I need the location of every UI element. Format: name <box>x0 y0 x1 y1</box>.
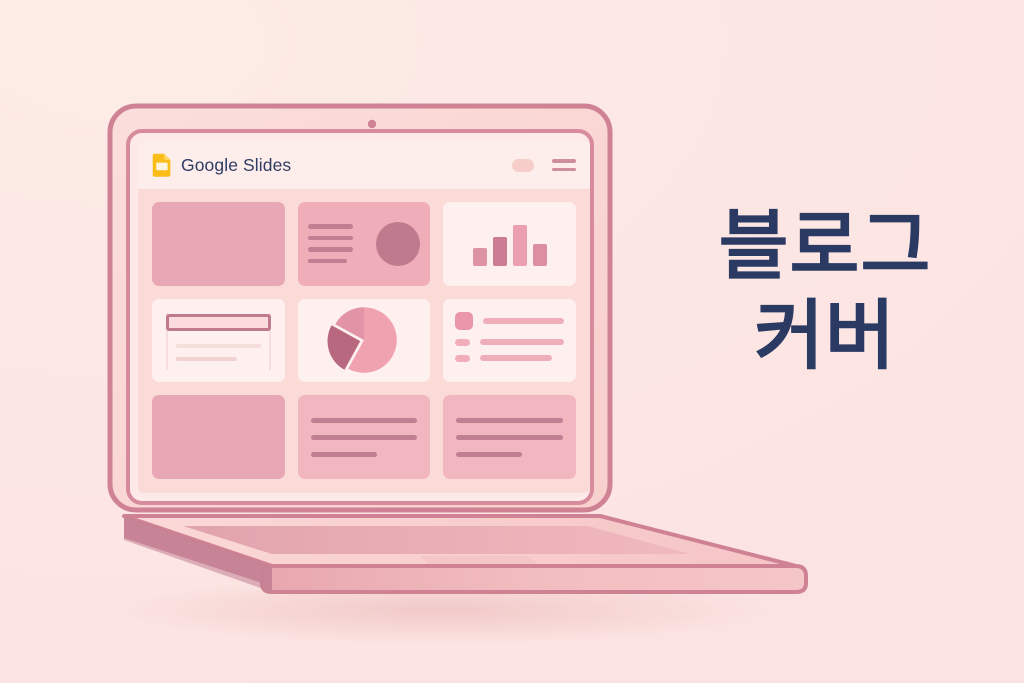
slide-thumbnail-6-list[interactable] <box>443 299 576 383</box>
text-line <box>456 435 563 440</box>
list-line <box>483 318 564 324</box>
slide-thumbnail-4-document[interactable] <box>152 299 285 383</box>
brand-area: Google Slides <box>152 153 291 178</box>
bar-4 <box>533 244 547 266</box>
bullet-icon <box>455 339 470 346</box>
list-item <box>455 312 564 330</box>
google-slides-icon <box>152 153 172 178</box>
list-item <box>455 355 564 362</box>
illustration-canvas: Google Slides <box>0 0 1024 683</box>
bar-1 <box>473 248 487 265</box>
slide-thumbnail-9-text[interactable] <box>443 395 576 479</box>
slide-thumbnail-5-pie-chart[interactable] <box>298 299 431 383</box>
webcam-dot <box>368 120 376 128</box>
body-line-1 <box>176 344 261 348</box>
account-pill[interactable] <box>512 159 534 172</box>
avatar <box>376 222 420 266</box>
list-line <box>480 339 564 345</box>
slide-thumbnail-8-text[interactable] <box>298 395 431 479</box>
text-line <box>456 452 522 457</box>
slide-thumbnail-3-bar-chart[interactable] <box>443 202 576 286</box>
headline-line-2: 커버 <box>660 292 990 382</box>
slides-grid <box>138 189 590 493</box>
text-line <box>311 435 418 440</box>
text-lines <box>308 224 371 263</box>
slide-thumbnail-1[interactable] <box>152 202 285 286</box>
headline-line-1: 블로그 <box>719 204 932 289</box>
list-item <box>455 339 564 346</box>
header-block <box>166 314 271 331</box>
headline: 블로그 커버 <box>660 202 990 381</box>
bullet-icon <box>455 355 470 362</box>
laptop-front-edge <box>262 566 806 592</box>
text-line <box>456 418 563 423</box>
pie-chart <box>325 301 403 379</box>
text-line <box>311 452 377 457</box>
slide-thumbnail-7[interactable] <box>152 395 285 479</box>
hamburger-menu-icon[interactable] <box>552 159 576 171</box>
bar-3 <box>513 225 527 265</box>
browser-topbar: Google Slides <box>138 141 590 189</box>
bar-2 <box>493 237 507 265</box>
topbar-actions <box>512 159 576 172</box>
list-line <box>480 355 552 361</box>
text-line <box>311 418 418 423</box>
body-line-2 <box>176 357 237 361</box>
slide-thumbnail-2[interactable] <box>298 202 431 286</box>
browser-screen: Google Slides <box>138 141 590 493</box>
bullet-icon <box>455 312 473 330</box>
brand-title: Google Slides <box>181 155 291 176</box>
